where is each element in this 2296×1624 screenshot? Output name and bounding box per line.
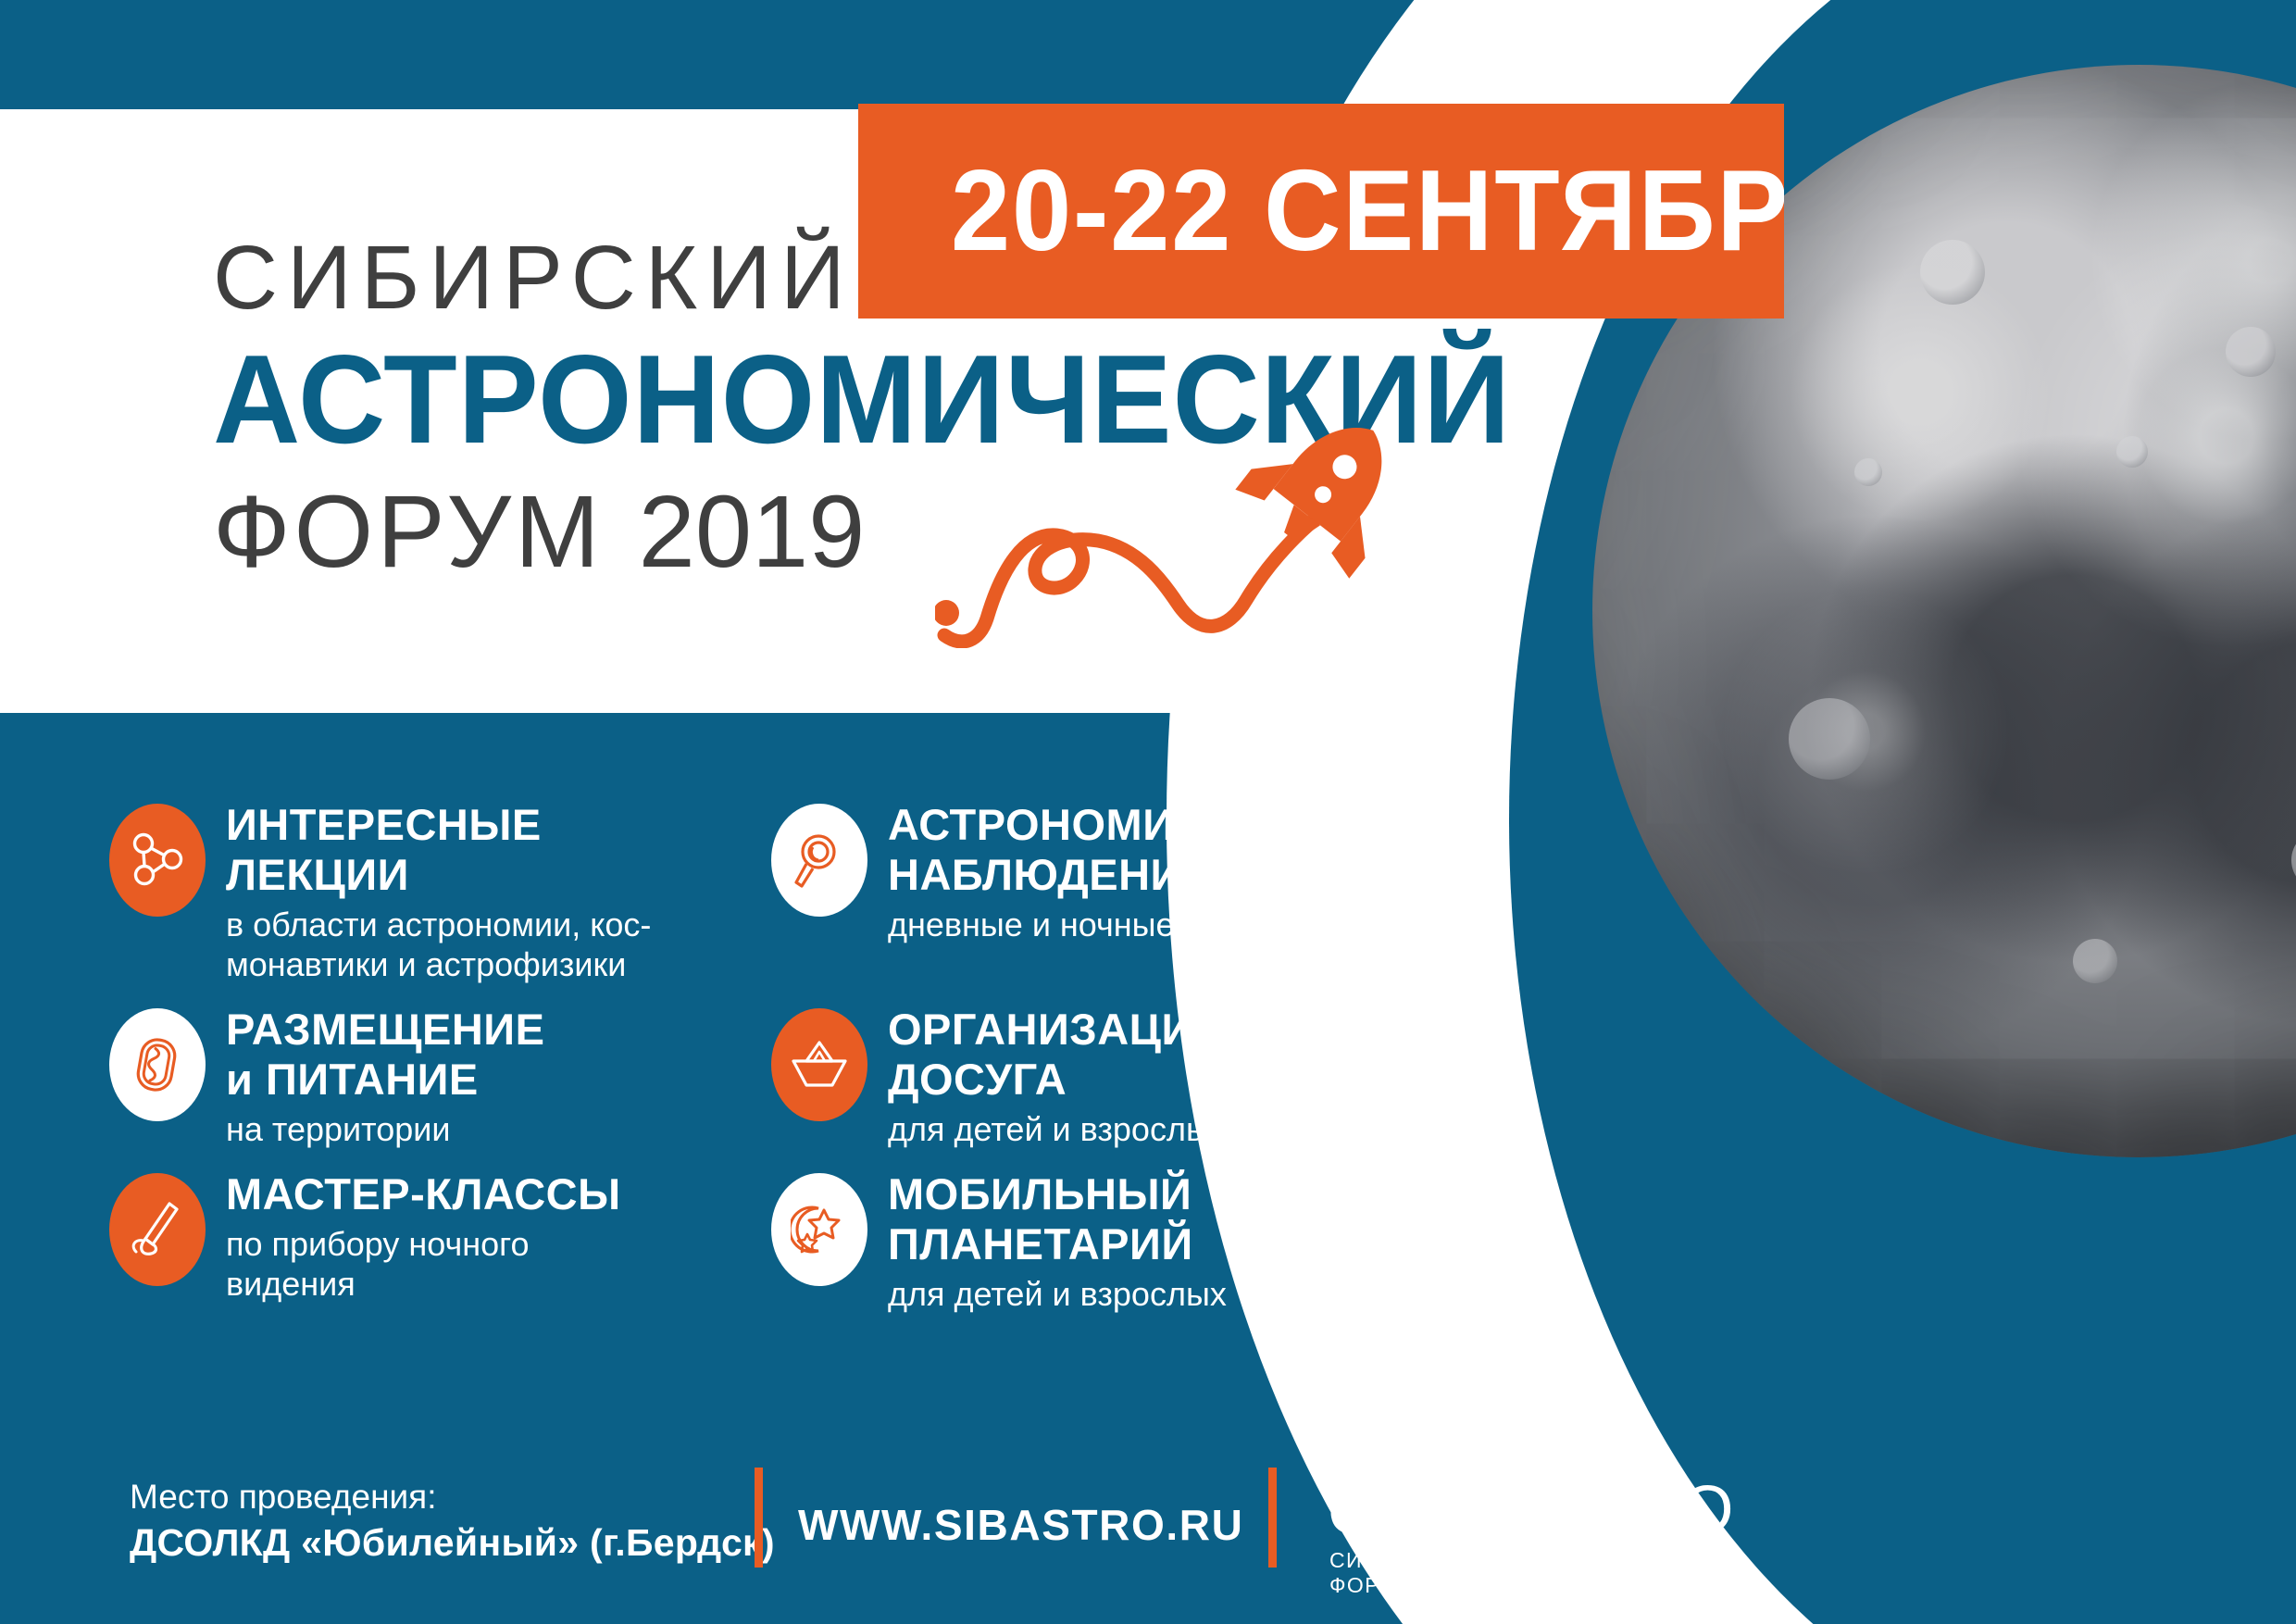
feature-subtitle: на территории	[226, 1109, 544, 1149]
logo-part-2: АСТРО	[1498, 1472, 1736, 1548]
smoke-trail	[944, 500, 1341, 642]
feature-subtitle: в области астрономии, кос- монавтики и а…	[226, 905, 651, 984]
feature-text: МОБИЛЬНЫЙ ПЛАНЕТАРИЙ для детей и взрослы…	[888, 1166, 1227, 1314]
logo-tagline: СИБИРСКИЙ АСТРОНОМИЧЕСКИЙ ФОРУМ	[1329, 1548, 1770, 1598]
feature-item[interactable]: МАСТЕР-КЛАССЫ по прибору ночного видения	[109, 1166, 771, 1314]
venue-block: Место проведения: ДСОЛКД «Юбилейный» (г.…	[130, 1476, 775, 1567]
feature-item[interactable]: МОБИЛЬНЫЙ ПЛАНЕТАРИЙ для детей и взрослы…	[771, 1166, 1433, 1314]
feature-subtitle: по прибору ночного видения	[226, 1224, 621, 1304]
feature-title: МАСТЕР-КЛАССЫ	[226, 1169, 621, 1219]
features-row-3: МАСТЕР-КЛАССЫ по прибору ночного видения…	[109, 1166, 1433, 1330]
feature-text: ИНТЕРЕСНЫЕ ЛЕКЦИИ в области астрономии, …	[226, 796, 651, 984]
feature-title: РАЗМЕЩЕНИЕ и ПИТАНИЕ	[226, 1005, 544, 1105]
feature-item[interactable]: РАЗМЕЩЕНИЕ и ПИТАНИЕ на территории	[109, 1001, 771, 1149]
feature-subtitle: для детей и взрослых	[888, 1274, 1227, 1314]
feature-subtitle: дневные и ночные	[888, 905, 1355, 944]
feature-item[interactable]: ИНТЕРЕСНЫЕ ЛЕКЦИИ в области астрономии, …	[109, 796, 771, 984]
feature-item[interactable]: ОРГАНИЗАЦИЯ ДОСУГА для детей и взрослых	[771, 1001, 1433, 1149]
paint-brush-icon	[109, 1173, 206, 1286]
poster-canvas: 20-22 СЕНТЯБРЯ СИБИРСКИЙ АСТРОНОМИЧЕСКИЙ…	[0, 0, 2296, 1624]
feature-text: МАСТЕР-КЛАССЫ по прибору ночного видения	[226, 1166, 621, 1304]
footer-divider	[755, 1468, 763, 1568]
feature-title: АСТРОНОМИЧЕСКИЕ НАБЛЮДЕНИЯ	[888, 800, 1355, 900]
headline-year: 2019	[639, 475, 866, 589]
feature-title: ОРГАНИЗАЦИЯ ДОСУГА	[888, 1005, 1227, 1105]
paper-boat-icon	[771, 1008, 867, 1121]
trail-dot	[935, 600, 959, 626]
magnifier-icon	[771, 804, 867, 917]
top-blue-band	[0, 0, 1565, 109]
rocket-graphic	[935, 370, 1583, 648]
feature-text: АСТРОНОМИЧЕСКИЕ НАБЛЮДЕНИЯ дневные и ноч…	[888, 796, 1355, 944]
rocket-icon	[1233, 386, 1430, 581]
feature-text: ОРГАНИЗАЦИЯ ДОСУГА для детей и взрослых	[888, 1001, 1227, 1149]
moon-stars-icon	[771, 1173, 867, 1286]
footer-divider	[1268, 1468, 1277, 1568]
hotdog-icon	[109, 1008, 206, 1121]
feature-title: МОБИЛЬНЫЙ ПЛАНЕТАРИЙ	[888, 1169, 1227, 1269]
logo-part-1: СИБ	[1328, 1476, 1485, 1548]
website-link[interactable]: WWW.SIBASTRO.RU	[798, 1500, 1243, 1550]
feature-subtitle: для детей и взрослых	[888, 1109, 1227, 1149]
features-grid: ИНТЕРЕСНЫЕ ЛЕКЦИИ в области астрономии, …	[109, 796, 1433, 1330]
molecule-icon	[109, 804, 206, 917]
venue-value: ДСОЛКД «Юбилейный» (г.Бердск)	[130, 1518, 775, 1567]
feature-title: ИНТЕРЕСНЫЕ ЛЕКЦИИ	[226, 800, 651, 900]
features-row-1: ИНТЕРЕСНЫЕ ЛЕКЦИИ в области астрономии, …	[109, 796, 1433, 1001]
sibastro-logo[interactable]: СИБ АСТРО СИБИРСКИЙ АСТРОНОМИЧЕСКИЙ ФОРУ…	[1326, 1394, 1770, 1589]
feature-text: РАЗМЕЩЕНИЕ и ПИТАНИЕ на территории	[226, 1001, 544, 1149]
venue-label: Место проведения:	[130, 1476, 775, 1518]
feature-item[interactable]: АСТРОНОМИЧЕСКИЕ НАБЛЮДЕНИЯ дневные и ноч…	[771, 796, 1433, 984]
features-row-2: РАЗМЕЩЕНИЕ и ПИТАНИЕ на территории ОРГАН…	[109, 1001, 1433, 1166]
footer: Место проведения: ДСОЛКД «Юбилейный» (г.…	[0, 1472, 1852, 1593]
headline-forum-word: ФОРУМ	[213, 475, 604, 589]
headline-line-1: СИБИРСКИЙ	[213, 230, 1565, 326]
